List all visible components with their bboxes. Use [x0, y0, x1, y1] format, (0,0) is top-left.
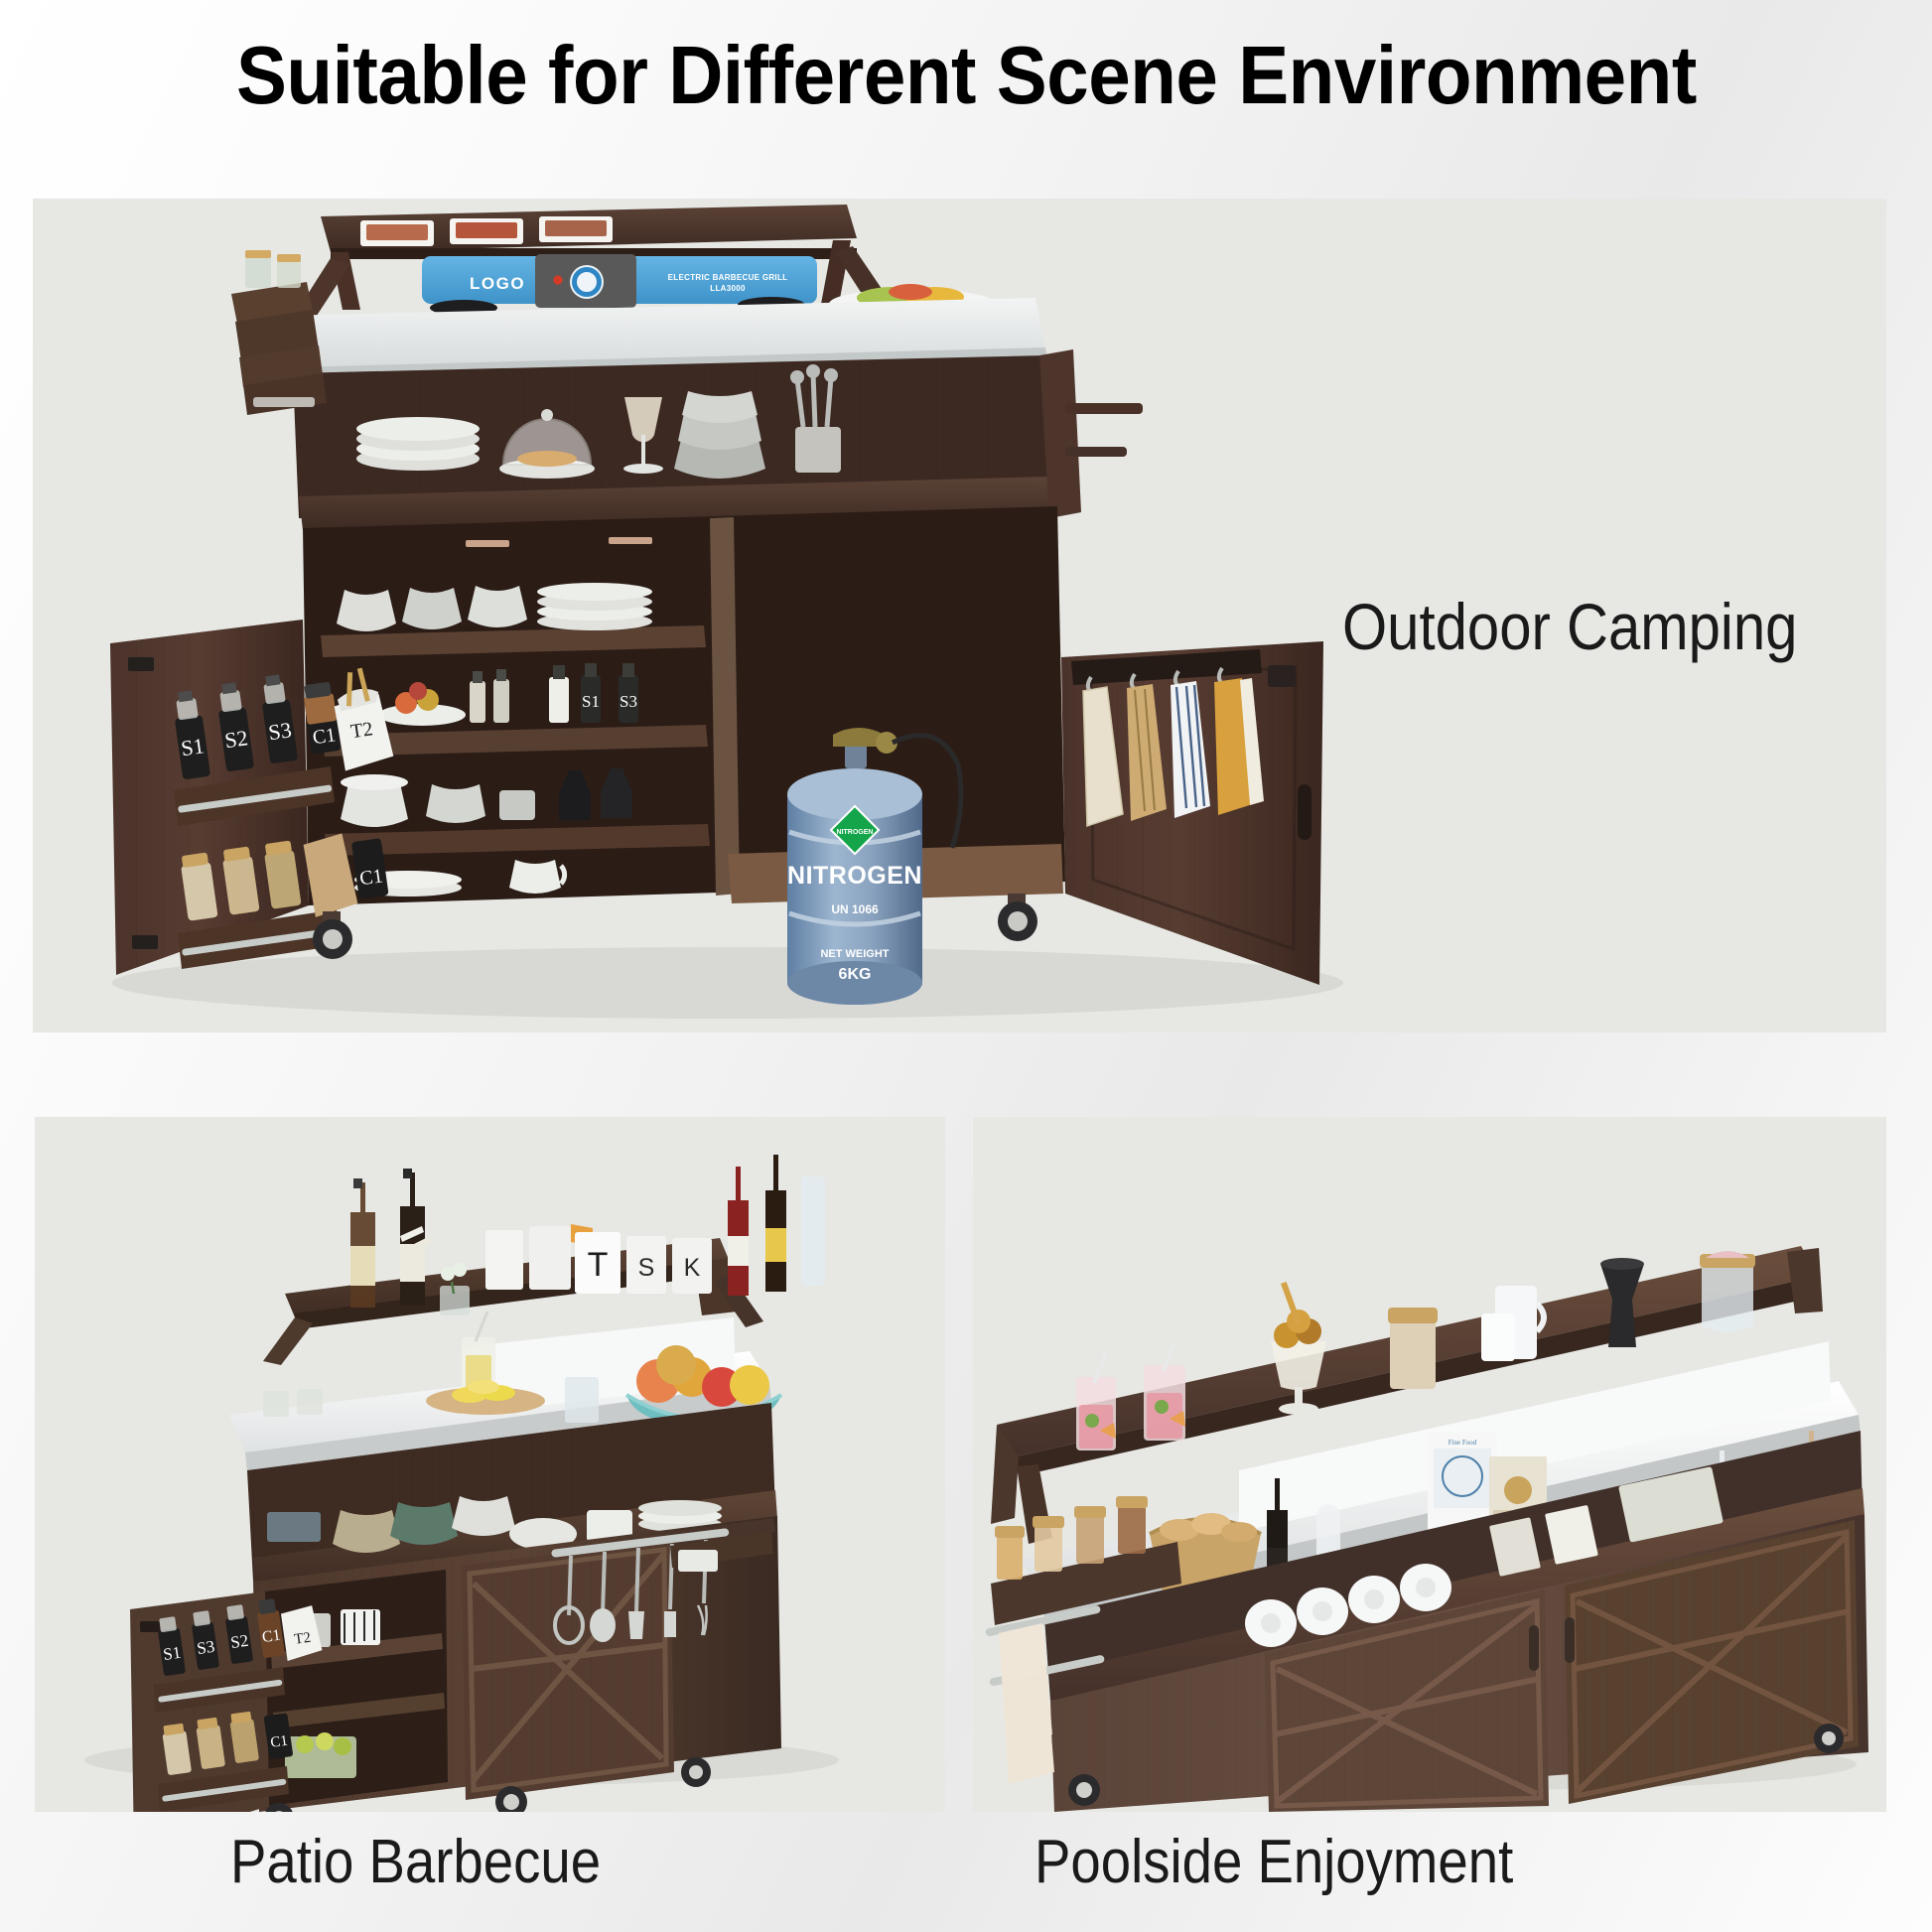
caption-outdoor-camping: Outdoor Camping: [1342, 594, 1797, 659]
svg-text:T: T: [588, 1246, 609, 1284]
page-header: Suitable for Different Scene Environment: [0, 0, 1932, 149]
svg-text:S3: S3: [620, 692, 637, 711]
svg-text:Fine Food: Fine Food: [1449, 1439, 1477, 1447]
svg-text:6KG: 6KG: [839, 966, 872, 983]
caption-patio-barbecue: Patio Barbecue: [230, 1832, 601, 1893]
svg-text:K: K: [684, 1254, 701, 1282]
caption-poolside-enjoyment: Poolside Enjoyment: [1035, 1832, 1513, 1893]
svg-text:T2: T2: [349, 718, 374, 743]
svg-text:NET WEIGHT: NET WEIGHT: [820, 948, 889, 960]
svg-text:S: S: [638, 1254, 655, 1282]
scene-panel-poolside-enjoyment: Fine Food: [973, 1117, 1886, 1812]
page-title: Suitable for Different Scene Environment: [236, 34, 1697, 116]
svg-text:UN 1066: UN 1066: [831, 902, 879, 916]
poolside-enjoyment-illustration: Fine Food: [973, 1117, 1886, 1812]
barn-door: [462, 1540, 674, 1800]
svg-text:C1: C1: [311, 724, 337, 749]
svg-text:NITROGEN: NITROGEN: [837, 829, 874, 836]
svg-text:S1: S1: [162, 1643, 182, 1664]
svg-text:S3: S3: [267, 717, 294, 745]
svg-text:ELECTRIC BARBECUE GRILL: ELECTRIC BARBECUE GRILL: [668, 273, 788, 282]
svg-text:LLA3000: LLA3000: [710, 284, 746, 293]
svg-text:S2: S2: [229, 1631, 249, 1652]
svg-text:C1: C1: [269, 1733, 289, 1751]
svg-text:S1: S1: [180, 733, 207, 760]
food-trays: [360, 216, 613, 246]
svg-text:C1: C1: [261, 1627, 282, 1646]
svg-text:T2: T2: [293, 1630, 312, 1648]
svg-text:C1: C1: [358, 865, 384, 890]
scene-panel-patio-barbecue: T S K: [35, 1117, 945, 1812]
svg-text:LOGO: LOGO: [470, 274, 525, 293]
svg-text:S2: S2: [223, 725, 250, 753]
svg-text:S1: S1: [582, 692, 600, 711]
svg-text:S3: S3: [196, 1637, 215, 1658]
svg-text:NITROGEN: NITROGEN: [787, 862, 922, 890]
patio-barbecue-illustration: T S K: [35, 1117, 945, 1812]
